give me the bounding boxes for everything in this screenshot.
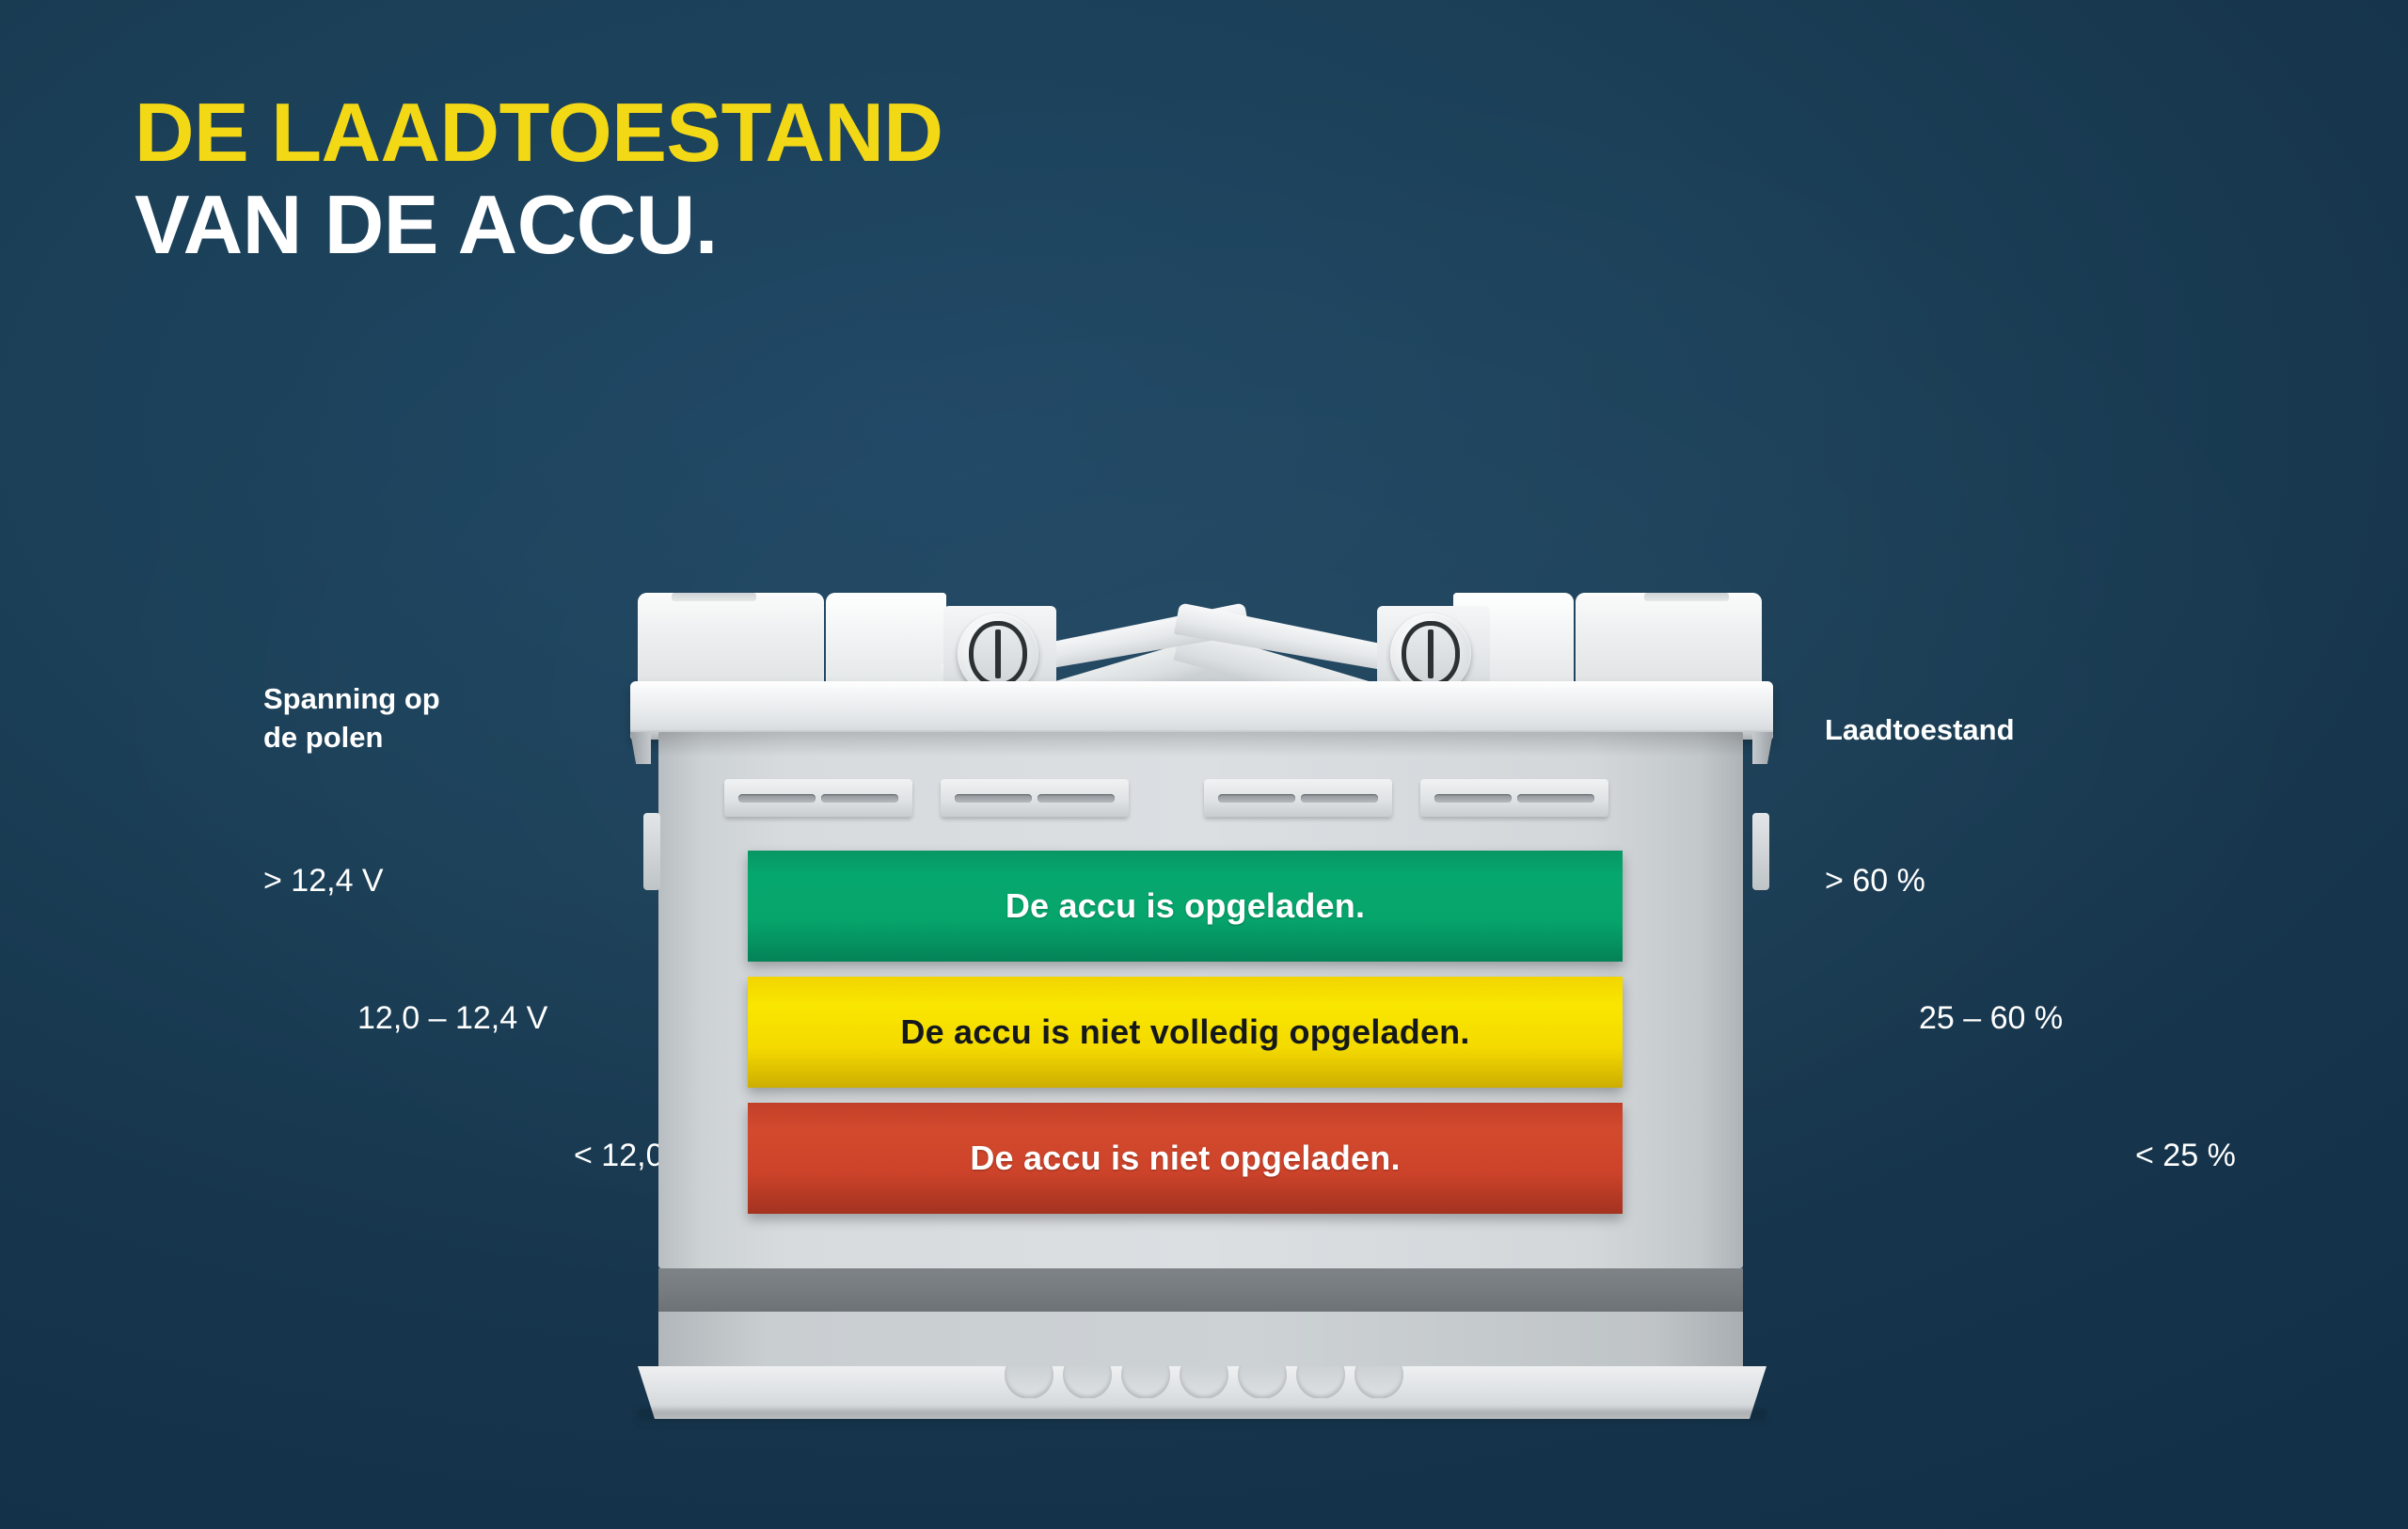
- charge-value-charged: > 60 %: [1825, 863, 1925, 900]
- charge-state-column-header: Laadtoestand: [1825, 710, 2154, 749]
- voltage-column-header: Spanning op de polen: [263, 679, 574, 757]
- car-battery-illustration: De accu is opgeladen. De accu is niet vo…: [630, 589, 1782, 1370]
- status-bar-partially-charged-label: De accu is niet volledig opgeladen.: [900, 1012, 1469, 1052]
- battery-lid-block-left: [638, 593, 824, 692]
- page-title-line-2: VAN DE ACCU.: [135, 183, 943, 267]
- status-bars: De accu is opgeladen. De accu is niet vo…: [748, 851, 1623, 1214]
- battery-lid: [638, 589, 1762, 694]
- battery-lid-notch-left: [672, 593, 756, 601]
- battery-lower-light-band: [658, 1312, 1743, 1370]
- status-bar-charged: De accu is opgeladen.: [748, 851, 1623, 962]
- battery-lid-notch-right: [1644, 593, 1729, 601]
- page-title-line-1: DE LAADTOESTAND: [135, 90, 943, 175]
- battery-base-wave: [1005, 1366, 1409, 1398]
- page-title: DE LAADTOESTAND VAN DE ACCU.: [135, 90, 943, 267]
- battery-flange-edge-right: [1752, 732, 1773, 764]
- vent-cap-strip-3: [1204, 779, 1392, 817]
- charge-value-partially-charged: 25 – 60 %: [1919, 1000, 2063, 1037]
- voltage-column: Spanning op de polen > 12,4 V 12,0 – 12,…: [263, 679, 574, 757]
- charge-state-column: Laadtoestand > 60 % 25 – 60 % < 25 %: [1825, 710, 2154, 749]
- status-bar-not-charged-label: De accu is niet opgeladen.: [970, 1139, 1400, 1178]
- status-bar-partially-charged: De accu is niet volledig opgeladen.: [748, 977, 1623, 1088]
- battery-lid-flange: [630, 681, 1773, 740]
- vent-cap-strip-1: [724, 779, 912, 817]
- vent-cap-strip-4: [1420, 779, 1608, 817]
- battery-side-tab-right: [1752, 813, 1769, 890]
- battery-lid-block-right: [1576, 593, 1762, 692]
- voltage-value-charged: > 12,4 V: [263, 863, 384, 900]
- vent-cap-strip-2: [941, 779, 1129, 817]
- battery-lower-dark-band: [658, 1268, 1743, 1312]
- battery-flange-edge-left: [630, 732, 651, 764]
- charge-value-not-charged: < 25 %: [2135, 1138, 2236, 1174]
- battery-body-top-shadow: [658, 732, 1743, 757]
- battery-lid-block-left-inner: [826, 593, 946, 692]
- status-bar-charged-label: De accu is opgeladen.: [1006, 886, 1365, 926]
- voltage-value-partially-charged: 12,0 – 12,4 V: [357, 1000, 547, 1037]
- battery-base-shadow: [638, 1410, 1766, 1426]
- status-bar-not-charged: De accu is niet opgeladen.: [748, 1103, 1623, 1214]
- battery-side-tab-left: [643, 813, 660, 890]
